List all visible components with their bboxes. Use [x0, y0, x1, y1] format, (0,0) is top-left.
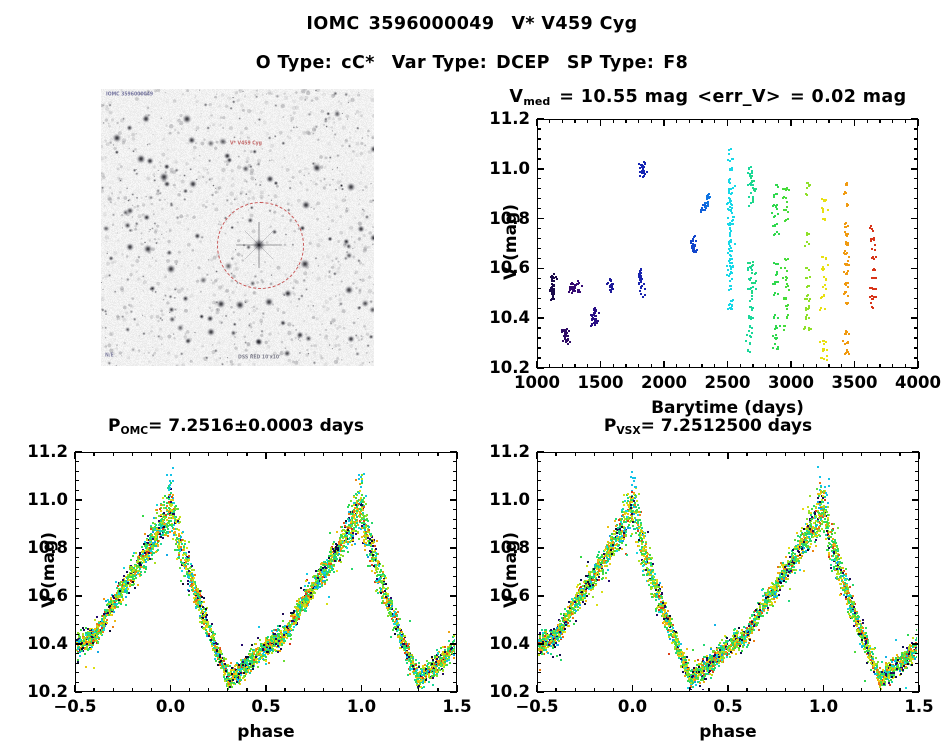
x-minor-tick: [746, 688, 747, 692]
x-minor-tick-top: [841, 119, 842, 123]
y-minor-tick-right: [915, 557, 919, 558]
y-minor-tick-right: [915, 567, 919, 568]
x-minor-tick: [638, 364, 639, 368]
y-tick-right: [450, 451, 457, 453]
phase-omc-x-axis-label: phase: [35, 722, 497, 742]
y-minor-tick-right: [915, 509, 919, 510]
x-minor-tick: [555, 688, 556, 692]
y-minor-tick: [75, 672, 79, 673]
y-minor-tick-right: [453, 586, 457, 587]
y-minor-tick: [537, 258, 541, 259]
y-minor-tick: [75, 490, 79, 491]
y-minor-tick-right: [453, 471, 457, 472]
sky-orientation-label: N/E: [105, 353, 114, 359]
y-minor-tick: [75, 653, 79, 654]
x-tick-label: 4000: [878, 373, 944, 392]
x-minor-tick-top: [842, 452, 843, 456]
y-minor-tick-right: [915, 490, 919, 491]
y-minor-tick: [75, 624, 79, 625]
x-minor-tick-top: [670, 452, 671, 456]
y-minor-tick: [537, 480, 541, 481]
y-tick-right: [450, 643, 457, 645]
y-minor-tick-right: [914, 298, 918, 299]
x-minor-tick-top: [594, 452, 595, 456]
x-tick-top: [727, 452, 729, 459]
y-minor-tick: [537, 228, 541, 229]
y-minor-tick-right: [915, 672, 919, 673]
y-minor-tick-right: [914, 228, 918, 229]
x-tick: [663, 361, 665, 368]
y-minor-tick: [537, 138, 541, 139]
err-equation: = 0.02 mag: [790, 87, 907, 107]
x-tick-top: [536, 452, 538, 459]
y-minor-tick: [75, 605, 79, 606]
x-minor-tick-top: [304, 452, 305, 456]
y-minor-tick: [75, 480, 79, 481]
x-tick: [265, 685, 267, 692]
x-minor-tick: [785, 688, 786, 692]
y-minor-tick-right: [914, 198, 918, 199]
y-tick: [75, 643, 82, 645]
y-minor-tick: [537, 663, 541, 664]
x-minor-tick-top: [816, 119, 817, 123]
x-minor-tick: [828, 364, 829, 368]
x-minor-tick: [151, 688, 152, 692]
x-minor-tick-top: [638, 119, 639, 123]
x-minor-tick: [778, 364, 779, 368]
y-minor-tick-right: [453, 605, 457, 606]
y-minor-tick: [75, 663, 79, 664]
x-minor-tick-top: [208, 452, 209, 456]
y-tick-label: 11.2: [480, 442, 530, 461]
y-minor-tick: [75, 586, 79, 587]
y-tick-label: 11.2: [18, 442, 68, 461]
catalog-name: IOMC: [306, 14, 359, 34]
x-tick-label: 0.0: [593, 697, 673, 716]
y-minor-tick-right: [914, 128, 918, 129]
x-minor-tick-top: [765, 119, 766, 123]
x-minor-tick-top: [625, 119, 626, 123]
y-minor-tick: [537, 634, 541, 635]
x-minor-tick: [905, 364, 906, 368]
x-minor-tick-top: [828, 119, 829, 123]
y-minor-tick: [75, 461, 79, 462]
y-tick: [537, 499, 544, 501]
x-minor-tick: [93, 688, 94, 692]
x-minor-tick: [342, 688, 343, 692]
y-minor-tick-right: [453, 557, 457, 558]
var-type-label: Var Type:: [392, 53, 487, 73]
y-minor-tick-right: [914, 178, 918, 179]
x-minor-tick: [418, 688, 419, 692]
x-minor-tick-top: [555, 452, 556, 456]
y-minor-tick: [75, 634, 79, 635]
y-tick: [75, 451, 82, 453]
y-tick: [537, 118, 544, 120]
y-minor-tick-right: [453, 528, 457, 529]
y-minor-tick: [537, 519, 541, 520]
x-minor-tick-top: [651, 119, 652, 123]
y-minor-tick: [537, 238, 541, 239]
y-minor-tick-right: [453, 634, 457, 635]
y-minor-tick: [537, 288, 541, 289]
x-minor-tick-top: [899, 452, 900, 456]
y-minor-tick-right: [914, 258, 918, 259]
y-minor-tick: [75, 682, 79, 683]
y-minor-tick: [537, 586, 541, 587]
y-minor-tick: [537, 605, 541, 606]
y-tick: [537, 691, 544, 693]
sky-survey-label: DSS RED 10'x10': [238, 355, 280, 361]
x-minor-tick: [892, 364, 893, 368]
y-minor-tick-right: [915, 538, 919, 539]
period-vsx-value: = 7.2512500 days: [641, 416, 813, 436]
vmed-subscript: med: [523, 95, 550, 108]
x-minor-tick-top: [575, 452, 576, 456]
x-tick-top: [663, 119, 665, 126]
x-minor-tick: [670, 688, 671, 692]
period-omc-subscript: OMC: [121, 424, 149, 437]
x-minor-tick: [323, 688, 324, 692]
y-minor-tick: [75, 615, 79, 616]
period-omc-value: = 7.2516±0.0003 days: [148, 416, 364, 436]
classification-line: O Type:cC*Var Type:DCEPSP Type:F8: [0, 53, 944, 73]
phase-vsx-datapoints: [538, 453, 917, 690]
y-minor-tick: [537, 567, 541, 568]
o-type-value: cC*: [341, 53, 375, 73]
x-minor-tick: [113, 688, 114, 692]
y-minor-tick-right: [453, 461, 457, 462]
x-tick: [790, 361, 792, 368]
y-minor-tick-right: [914, 288, 918, 289]
x-minor-tick-top: [880, 452, 881, 456]
y-minor-tick-right: [453, 663, 457, 664]
y-tick: [537, 367, 544, 369]
period-vsx-subscript: VSX: [616, 424, 640, 437]
y-minor-tick-right: [915, 605, 919, 606]
phase-omc-datapoints: [76, 453, 455, 690]
x-minor-tick-top: [587, 119, 588, 123]
sp-type-value: F8: [663, 53, 688, 73]
x-minor-tick: [304, 688, 305, 692]
y-minor-tick-right: [915, 586, 919, 587]
y-minor-tick: [537, 198, 541, 199]
x-minor-tick-top: [437, 452, 438, 456]
sky-image-frame: IOMC 3596000049 V* V459 Cyg DSS RED 10'x…: [101, 89, 374, 366]
photometry-stats-line: Vmed= 10.55 mag<err_V>= 0.02 mag: [472, 87, 944, 108]
x-tick-top: [823, 452, 825, 459]
y-tick-label: 10.2: [480, 358, 530, 377]
y-tick-right: [911, 168, 918, 170]
x-minor-tick-top: [740, 119, 741, 123]
y-minor-tick-right: [915, 471, 919, 472]
x-minor-tick-top: [752, 119, 753, 123]
y-tick-right: [912, 595, 919, 597]
y-tick-right: [450, 547, 457, 549]
y-minor-tick-right: [914, 208, 918, 209]
x-minor-tick-top: [701, 119, 702, 123]
x-minor-tick-top: [804, 452, 805, 456]
aperture-circle-icon: [217, 202, 304, 289]
period-omc-symbol: P: [108, 416, 120, 436]
x-minor-tick: [562, 364, 563, 368]
phase-vsx-y-axis-label: V (mag): [501, 500, 521, 640]
x-minor-tick: [879, 364, 880, 368]
y-minor-tick-right: [914, 337, 918, 338]
y-minor-tick: [537, 327, 541, 328]
x-minor-tick-top: [613, 119, 614, 123]
x-minor-tick: [841, 364, 842, 368]
y-minor-tick-right: [914, 158, 918, 159]
x-minor-tick: [594, 688, 595, 692]
phase-vsx-title: PVSX= 7.2512500 days: [472, 416, 944, 437]
x-minor-tick: [613, 688, 614, 692]
x-minor-tick: [399, 688, 400, 692]
y-minor-tick-right: [453, 576, 457, 577]
x-minor-tick: [689, 688, 690, 692]
y-minor-tick: [537, 347, 541, 348]
y-minor-tick: [75, 528, 79, 529]
y-minor-tick-right: [914, 327, 918, 328]
x-minor-tick: [613, 364, 614, 368]
y-minor-tick: [537, 148, 541, 149]
x-minor-tick-top: [549, 119, 550, 123]
phase-vsx-plot-area: [537, 452, 919, 692]
y-minor-tick-right: [915, 576, 919, 577]
y-tick-label: 10.2: [18, 682, 68, 701]
x-minor-tick-top: [132, 452, 133, 456]
x-minor-tick-top: [676, 119, 677, 123]
phase-omc-title: POMC= 7.2516±0.0003 days: [0, 416, 472, 437]
y-minor-tick-right: [915, 480, 919, 481]
y-minor-tick-right: [914, 278, 918, 279]
x-minor-tick: [816, 364, 817, 368]
x-tick-label: 1.0: [322, 697, 402, 716]
x-minor-tick-top: [714, 119, 715, 123]
x-tick-top: [727, 119, 729, 126]
phase-omc-plot-area: [75, 452, 457, 692]
x-tick-top: [918, 452, 920, 459]
x-minor-tick: [880, 688, 881, 692]
y-minor-tick: [537, 672, 541, 673]
y-minor-tick: [537, 357, 541, 358]
sky-id-label: IOMC 3596000049: [106, 92, 153, 98]
y-minor-tick-right: [915, 519, 919, 520]
x-minor-tick-top: [905, 119, 906, 123]
y-minor-tick: [75, 519, 79, 520]
y-minor-tick-right: [453, 538, 457, 539]
y-minor-tick: [537, 248, 541, 249]
y-tick-label: 10.2: [480, 682, 530, 701]
x-minor-tick: [549, 364, 550, 368]
y-minor-tick: [537, 178, 541, 179]
x-minor-tick-top: [189, 452, 190, 456]
y-tick-right: [912, 547, 919, 549]
y-tick: [537, 547, 544, 549]
x-minor-tick: [189, 688, 190, 692]
x-tick: [854, 361, 856, 368]
x-minor-tick-top: [766, 452, 767, 456]
x-tick-label: 0.5: [688, 697, 768, 716]
y-minor-tick: [537, 158, 541, 159]
y-minor-tick: [537, 509, 541, 510]
x-minor-tick-top: [227, 452, 228, 456]
x-minor-tick: [867, 364, 868, 368]
y-minor-tick: [537, 298, 541, 299]
x-minor-tick-top: [861, 452, 862, 456]
y-minor-tick-right: [914, 138, 918, 139]
x-minor-tick: [208, 688, 209, 692]
y-tick-right: [911, 118, 918, 120]
y-minor-tick: [537, 528, 541, 529]
x-minor-tick-top: [151, 452, 152, 456]
x-minor-tick: [246, 688, 247, 692]
y-minor-tick-right: [453, 682, 457, 683]
x-minor-tick: [689, 364, 690, 368]
x-minor-tick-top: [323, 452, 324, 456]
y-tick-right: [911, 317, 918, 319]
x-minor-tick: [574, 364, 575, 368]
x-tick-top: [361, 452, 363, 459]
page-title: IOMC3596000049V* V459 Cyg: [0, 14, 944, 34]
y-minor-tick-right: [914, 188, 918, 189]
y-minor-tick: [75, 509, 79, 510]
x-minor-tick-top: [574, 119, 575, 123]
y-minor-tick-right: [915, 653, 919, 654]
y-minor-tick-right: [915, 528, 919, 529]
y-minor-tick-right: [914, 347, 918, 348]
x-minor-tick: [380, 688, 381, 692]
x-tick: [600, 361, 602, 368]
y-minor-tick: [75, 557, 79, 558]
timeseries-datapoints: [538, 120, 916, 366]
y-minor-tick-right: [914, 248, 918, 249]
y-tick-right: [912, 451, 919, 453]
x-minor-tick: [651, 364, 652, 368]
y-minor-tick: [537, 188, 541, 189]
x-minor-tick: [842, 688, 843, 692]
x-minor-tick: [587, 364, 588, 368]
source-id: 3596000049: [369, 14, 495, 34]
star-name: V* V459 Cyg: [511, 14, 637, 34]
y-tick: [75, 595, 82, 597]
x-tick-top: [600, 119, 602, 126]
y-tick-right: [912, 691, 919, 693]
x-tick-top: [632, 452, 634, 459]
x-minor-tick: [740, 364, 741, 368]
y-tick: [537, 268, 544, 270]
y-minor-tick: [537, 624, 541, 625]
x-minor-tick-top: [113, 452, 114, 456]
y-minor-tick-right: [453, 519, 457, 520]
y-minor-tick: [537, 308, 541, 309]
y-minor-tick: [537, 461, 541, 462]
x-minor-tick: [651, 688, 652, 692]
y-tick: [537, 317, 544, 319]
y-tick: [75, 499, 82, 501]
x-tick-label: 1.0: [784, 697, 864, 716]
x-tick-top: [74, 452, 76, 459]
y-minor-tick-right: [914, 357, 918, 358]
x-minor-tick-top: [93, 452, 94, 456]
x-minor-tick-top: [651, 452, 652, 456]
x-minor-tick: [701, 364, 702, 368]
y-minor-tick-right: [914, 148, 918, 149]
y-minor-tick: [537, 337, 541, 338]
timeseries-x-axis-label: Barytime (days): [497, 398, 944, 418]
x-tick-label: 1.5: [879, 697, 944, 716]
x-tick: [361, 685, 363, 692]
timeseries-plot-area: [537, 119, 918, 368]
x-minor-tick: [227, 688, 228, 692]
x-minor-tick-top: [562, 119, 563, 123]
y-minor-tick-right: [453, 653, 457, 654]
x-minor-tick-top: [892, 119, 893, 123]
y-minor-tick-right: [915, 663, 919, 664]
x-tick: [823, 685, 825, 692]
y-minor-tick-right: [914, 238, 918, 239]
x-minor-tick-top: [613, 452, 614, 456]
phase-vsx-x-axis-label: phase: [497, 722, 944, 742]
x-tick-label: 0.5: [226, 697, 306, 716]
x-tick: [727, 685, 729, 692]
sky-target-label: V* V459 Cyg: [230, 141, 262, 147]
y-minor-tick: [537, 490, 541, 491]
x-minor-tick-top: [803, 119, 804, 123]
x-minor-tick-top: [284, 452, 285, 456]
x-tick-top: [170, 452, 172, 459]
y-minor-tick-right: [453, 672, 457, 673]
y-minor-tick: [537, 682, 541, 683]
x-minor-tick-top: [418, 452, 419, 456]
y-tick-label: 11.2: [480, 109, 530, 128]
y-minor-tick: [537, 208, 541, 209]
y-tick: [75, 547, 82, 549]
y-minor-tick: [75, 576, 79, 577]
err-label: <err_V>: [697, 87, 781, 107]
x-minor-tick: [575, 688, 576, 692]
y-minor-tick: [537, 557, 541, 558]
x-minor-tick: [708, 688, 709, 692]
timeseries-y-axis-label: V (mag): [501, 172, 521, 312]
y-tick-right: [450, 595, 457, 597]
y-minor-tick: [537, 538, 541, 539]
x-tick-top: [456, 452, 458, 459]
y-minor-tick: [537, 576, 541, 577]
y-tick: [537, 451, 544, 453]
x-minor-tick-top: [785, 452, 786, 456]
x-minor-tick: [861, 688, 862, 692]
x-tick-top: [854, 119, 856, 126]
x-minor-tick-top: [746, 452, 747, 456]
y-minor-tick: [537, 615, 541, 616]
x-minor-tick: [752, 364, 753, 368]
y-minor-tick-right: [453, 567, 457, 568]
y-tick: [537, 168, 544, 170]
x-minor-tick: [437, 688, 438, 692]
y-tick: [537, 218, 544, 220]
y-tick: [537, 595, 544, 597]
x-tick-label: 0.0: [131, 697, 211, 716]
x-minor-tick: [766, 688, 767, 692]
x-minor-tick: [625, 364, 626, 368]
y-minor-tick-right: [915, 634, 919, 635]
y-minor-tick-right: [453, 480, 457, 481]
y-minor-tick-right: [915, 615, 919, 616]
y-tick-right: [912, 499, 919, 501]
y-minor-tick-right: [453, 624, 457, 625]
x-minor-tick: [132, 688, 133, 692]
